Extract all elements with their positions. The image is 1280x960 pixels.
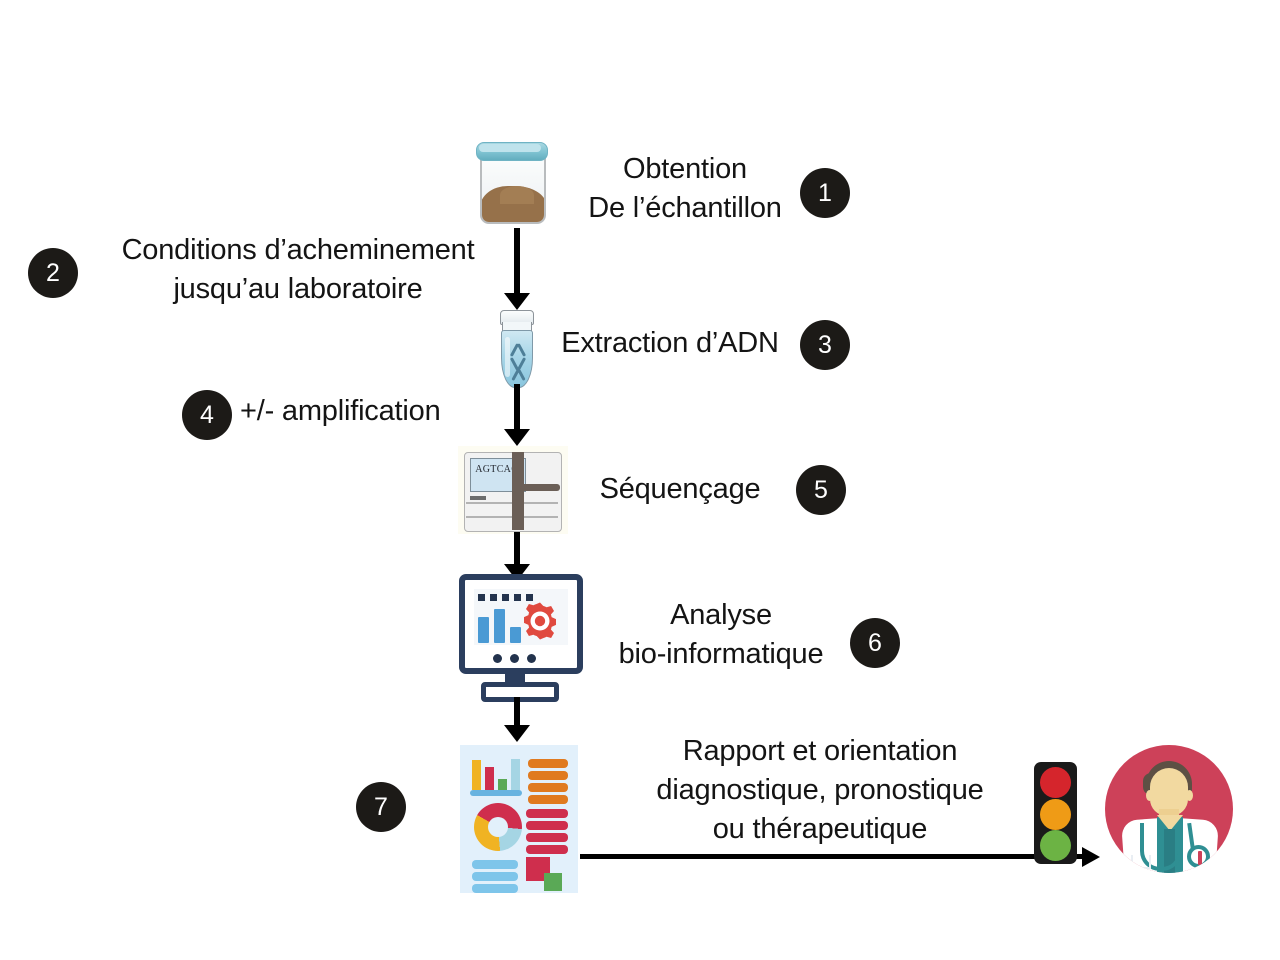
jar-lid bbox=[476, 142, 548, 161]
report-bar-4 bbox=[511, 759, 520, 790]
jar-body bbox=[480, 150, 546, 224]
doctor-pocket bbox=[1131, 855, 1151, 869]
step-1-badge[interactable]: 1 bbox=[800, 168, 850, 218]
report-line-red-2 bbox=[526, 821, 568, 830]
step-4-badge[interactable]: 4 bbox=[182, 390, 232, 440]
eppendorf-tube-icon bbox=[494, 310, 538, 388]
doctor-pen bbox=[1198, 851, 1202, 865]
sequencer-arm bbox=[520, 484, 560, 491]
gear-icon bbox=[520, 601, 560, 641]
step-5-label: Séquençage bbox=[580, 470, 780, 509]
sequencer-slot bbox=[470, 496, 486, 500]
step-6-badge[interactable]: 6 bbox=[850, 618, 900, 668]
computer-monitor-icon bbox=[459, 574, 577, 694]
step-2-label: Conditions d’acheminement jusqu’au labor… bbox=[88, 231, 508, 309]
report-bar-1 bbox=[472, 760, 481, 790]
report-line-blue-3 bbox=[472, 884, 518, 893]
arrow-report-to-doctor bbox=[580, 847, 1100, 867]
report-bar-3 bbox=[498, 779, 507, 790]
doctor-avatar bbox=[1105, 745, 1233, 873]
sequencer-column bbox=[512, 452, 524, 530]
amber-light bbox=[1040, 799, 1071, 830]
step-7-label: Rapport et orientation diagnostique, pro… bbox=[600, 732, 1040, 849]
arrow-tube-to-sequencer bbox=[504, 384, 530, 446]
step-5-badge[interactable]: 5 bbox=[796, 465, 846, 515]
traffic-light-icon bbox=[1034, 762, 1077, 864]
tube-vessel bbox=[501, 330, 533, 388]
report-chart-axis bbox=[470, 790, 522, 796]
step-3-badge[interactable]: 3 bbox=[800, 320, 850, 370]
report-line-orange-2 bbox=[528, 771, 568, 780]
monitor-screen bbox=[474, 589, 568, 645]
arrow-sequencer-to-monitor bbox=[504, 532, 530, 580]
report-line-red-1 bbox=[526, 809, 568, 818]
step-7-badge[interactable]: 7 bbox=[356, 782, 406, 832]
report-line-blue-2 bbox=[472, 872, 518, 881]
specimen-jar-icon bbox=[476, 138, 546, 228]
sequencer-icon: AGTCAG bbox=[458, 446, 568, 534]
report-line-red-3 bbox=[526, 833, 568, 842]
report-line-orange-4 bbox=[528, 795, 568, 804]
report-bar-2 bbox=[485, 767, 494, 790]
step-1-label: Obtention De l’échantillon bbox=[540, 150, 830, 228]
arrow-monitor-to-report bbox=[504, 697, 530, 741]
report-line-orange-1 bbox=[528, 759, 568, 768]
report-line-blue-1 bbox=[472, 860, 518, 869]
monitor-lower-bezel bbox=[459, 650, 583, 674]
report-square-green bbox=[544, 873, 562, 891]
jar-lid-highlight bbox=[479, 144, 541, 152]
report-donut-chart bbox=[474, 803, 522, 851]
report-line-orange-3 bbox=[528, 783, 568, 792]
step-4-label: +/- amplification bbox=[240, 392, 490, 431]
jar-content-mound bbox=[500, 186, 534, 204]
red-light bbox=[1040, 767, 1071, 798]
step-2-badge[interactable]: 2 bbox=[28, 248, 78, 298]
diagram-canvas: Obtention De l’échantillon 1 2 Condition… bbox=[0, 0, 1280, 960]
report-document-icon bbox=[460, 745, 578, 893]
doctor-ear-left bbox=[1146, 790, 1153, 801]
step-3-label: Extraction d’ADN bbox=[540, 324, 800, 363]
doctor-ear-right bbox=[1186, 790, 1193, 801]
step-6-label: Analyse bio-informatique bbox=[590, 596, 852, 674]
green-light bbox=[1040, 830, 1071, 861]
report-line-red-4 bbox=[526, 845, 568, 854]
